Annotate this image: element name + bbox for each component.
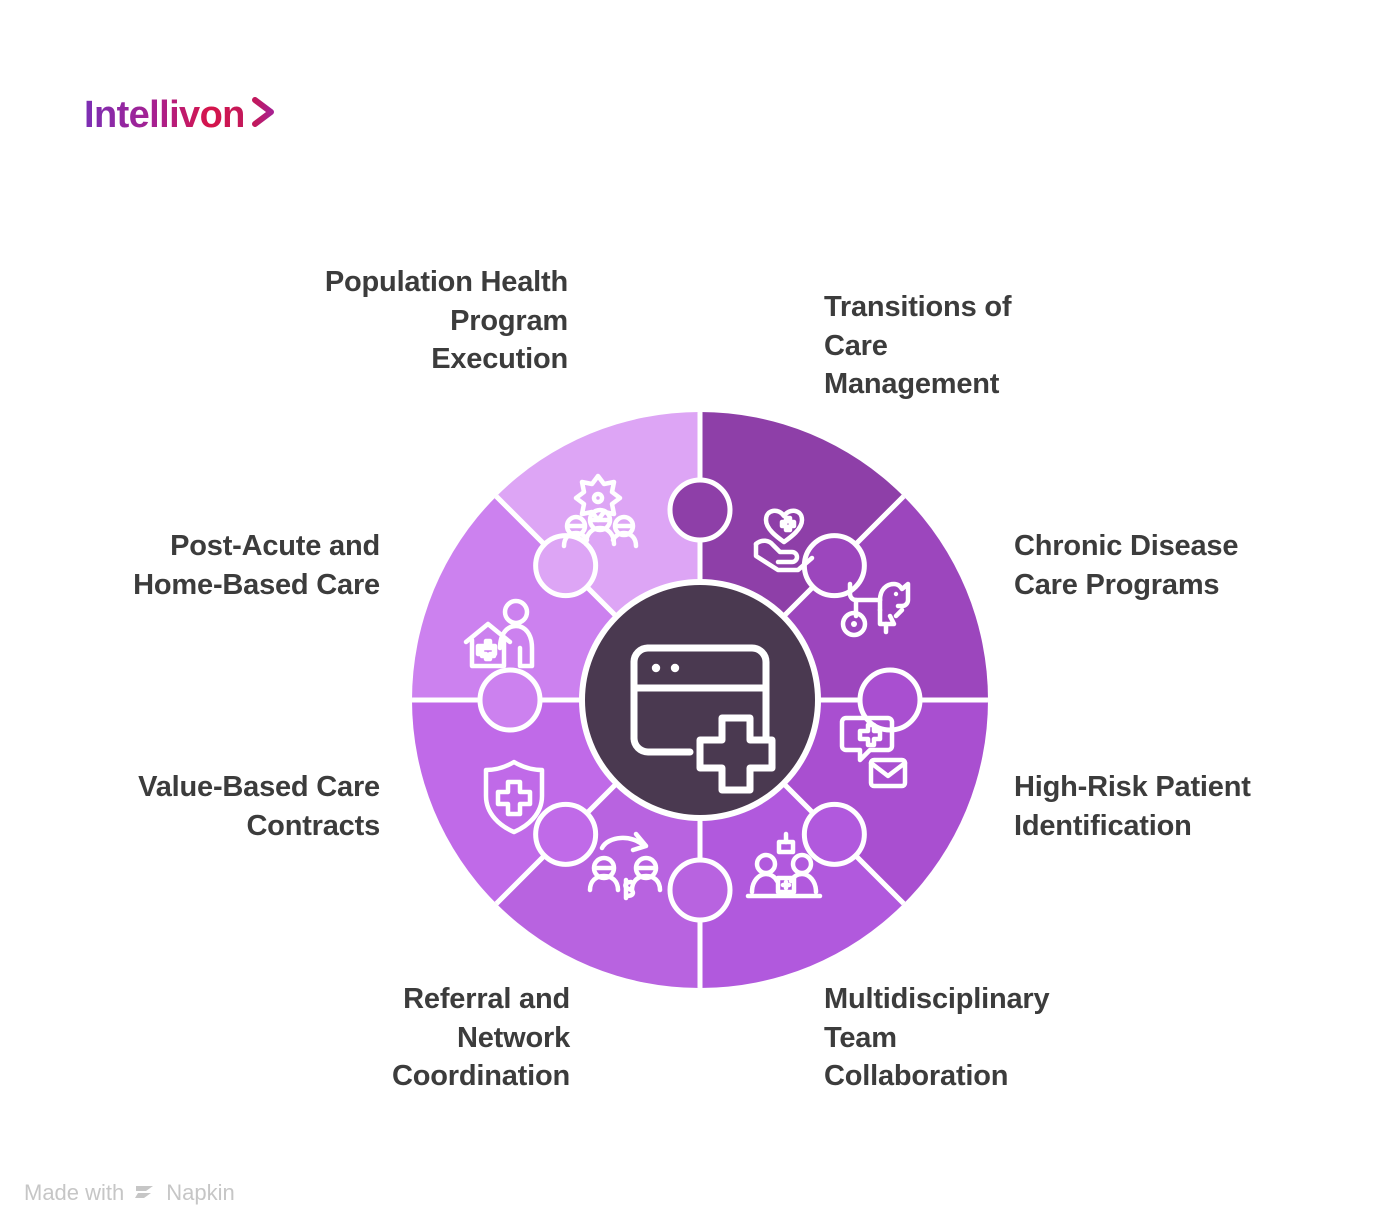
label-chronic-disease: Chronic Disease Care Programs xyxy=(1014,527,1354,604)
label-transitions-of-care: Transitions of Care Management xyxy=(824,288,1124,404)
brand-name: Intellivon xyxy=(84,96,245,134)
label-multidisciplinary-team: Multidisciplinary Team Collaboration xyxy=(824,980,1154,1096)
label-post-acute-home-based: Post-Acute and Home-Based Care xyxy=(0,527,380,604)
brand-logo[interactable]: Intellivon xyxy=(84,92,281,137)
chevron-right-icon xyxy=(247,92,281,137)
footer-product: Napkin xyxy=(166,1180,234,1206)
label-referral-network: Referral and Network Coordination xyxy=(270,980,570,1096)
made-with-napkin-footer[interactable]: Made with Napkin xyxy=(24,1180,235,1206)
label-population-health: Population Health Program Execution xyxy=(208,263,568,379)
puzzle-wheel-diagram xyxy=(400,400,1000,1000)
label-high-risk-patient: High-Risk Patient Identification xyxy=(1014,768,1359,845)
label-value-based-care: Value-Based Care Contracts xyxy=(0,768,380,845)
napkin-logo-icon xyxy=(133,1182,157,1204)
footer-prefix: Made with xyxy=(24,1180,124,1206)
center-hub[interactable] xyxy=(582,582,818,818)
